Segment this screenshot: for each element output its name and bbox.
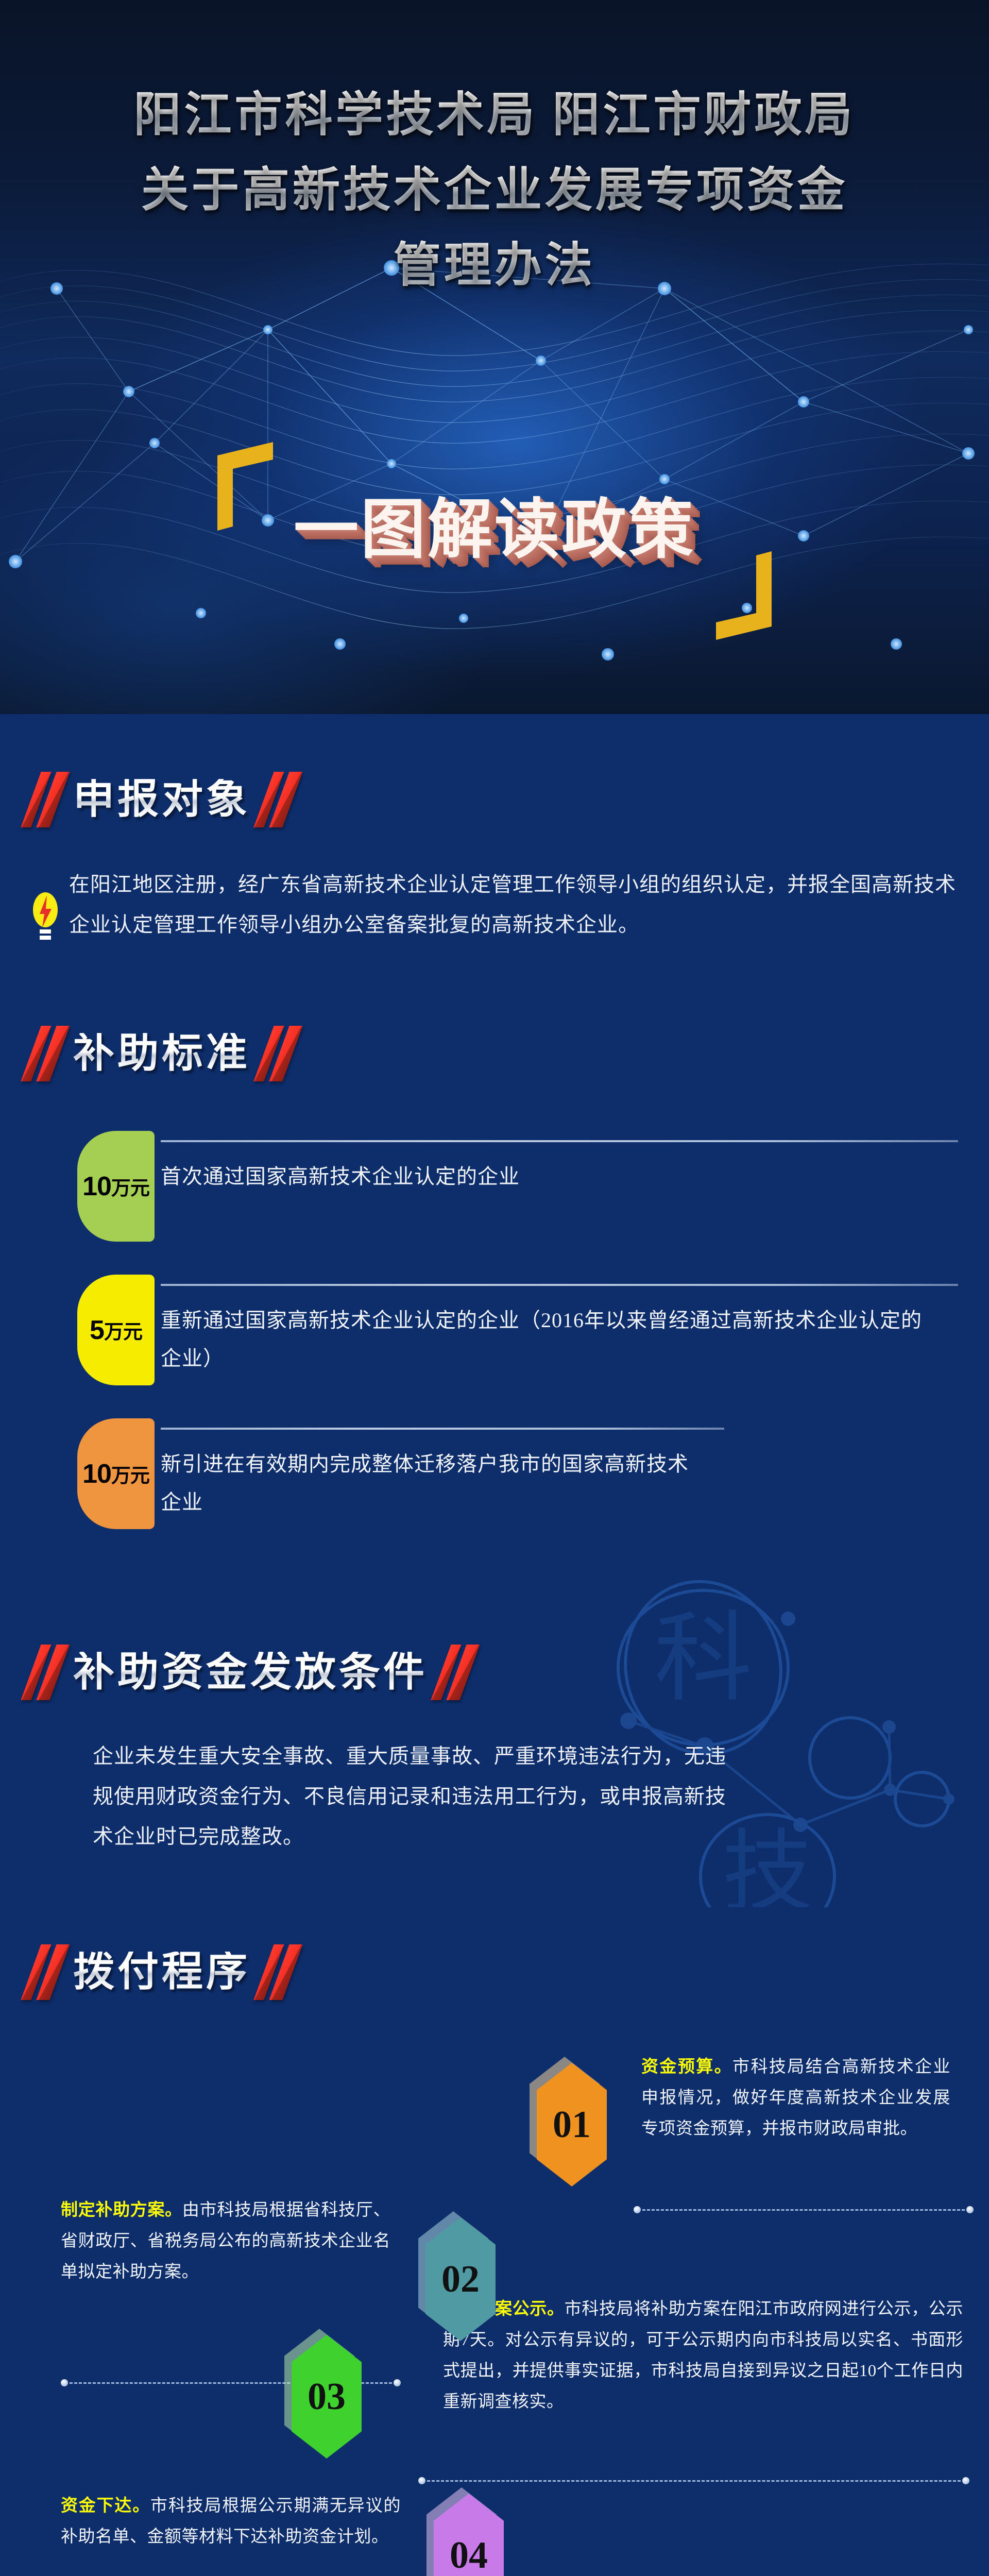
hero-title: 阳江市科学技术局 阳江市财政局 关于高新技术企业发展专项资金 管理办法: [0, 77, 989, 303]
hero-title-line-2: 关于高新技术企业发展专项资金: [0, 152, 989, 228]
divider: [161, 1140, 958, 1142]
step-text: 资金下达。市科技局根据公示期满无异议的补助名单、金额等材料下达补助资金计划。: [61, 2490, 401, 2552]
divider: [161, 1284, 958, 1286]
slash-right-icon: [264, 1944, 293, 2000]
section-heading-disbursement-process: 拨付程序: [0, 1944, 989, 2000]
subsidy-standard-list: 10万元 首次通过国家高新技术企业认定的企业 5万元 重新通过国家高新技术企业认…: [0, 1081, 989, 1529]
step-text: 补助方案公示。市科技局将补助方案在阳江市政府网进行公示，公示期7天。对公示有异议…: [443, 2294, 963, 2417]
section-disbursement-process: 拨付程序 01 资金预算。市科技局结合高新技术企业申报情况，做好年度高新技术企业…: [0, 1857, 989, 2576]
step-number-badge: 01: [530, 2057, 607, 2188]
list-item-text: 新引进在有效期内完成整体迁移落户我市的国家高新技术企业: [161, 1445, 704, 1521]
amount-value: 5: [90, 1315, 104, 1346]
step-text: 制定补助方案。由市科技局根据省科技厅、省财政厅、省税务局公布的高新技术企业名单拟…: [61, 2195, 390, 2287]
process-step-list: 01 资金预算。市科技局结合高新技术企业申报情况，做好年度高新技术企业发展专项资…: [0, 2052, 989, 2576]
section-title: 补助资金发放条件: [73, 1652, 428, 1693]
policy-banner: 一图解读政策: [191, 453, 798, 629]
list-item: 5万元 重新通过国家高新技术企业认定的企业（2016年以来曾经通过高新技术企业认…: [77, 1275, 958, 1385]
section-heading-application-target: 申报对象: [0, 772, 989, 827]
amount-value: 10: [82, 1171, 111, 1202]
list-item: 10万元 新引进在有效期内完成整体迁移落户我市的国家高新技术企业: [77, 1418, 958, 1529]
section-title: 拨付程序: [73, 1952, 250, 1993]
section-heading-subsidy-standard: 补助标准: [0, 1026, 989, 1081]
section-title: 补助标准: [73, 1033, 250, 1074]
connector-line: [418, 2477, 969, 2484]
amount-badge: 5万元: [77, 1275, 155, 1385]
step-lead: 制定补助方案。: [61, 2201, 182, 2219]
step-lead: 资金预算。: [641, 2058, 732, 2076]
slash-right-icon: [264, 1026, 293, 1081]
policy-banner-text: 一图解读政策: [191, 477, 798, 571]
content-sheet: 申报对象 在阳江地区注册，经广东省高新技术企业认定管理工作领导小组的组织认定，并…: [0, 714, 989, 2576]
section-payout-conditions: 科 技 补助资金发放条件 企业未发生重大安全事故、重大质量事故、严重环境违法行为…: [0, 1562, 989, 1857]
connector-line: [634, 2206, 974, 2213]
section-subsidy-standard: 补助标准 10万元 首次通过国家高新技术企业认定的企业 5万元: [0, 948, 989, 1529]
divider: [161, 1428, 724, 1430]
hero-banner: 阳江市科学技术局 阳江市财政局 关于高新技术企业发展专项资金 管理办法 一图解读…: [0, 0, 989, 714]
slash-left-icon: [31, 1944, 60, 2000]
step-text: 资金预算。市科技局结合高新技术企业申报情况，做好年度高新技术企业发展专项资金预算…: [641, 2052, 950, 2144]
list-item-text: 重新通过国家高新技术企业认定的企业（2016年以来曾经通过高新技术企业认定的企业…: [161, 1301, 937, 1378]
amount-value: 10: [82, 1459, 111, 1489]
hero-title-line-3: 管理办法: [0, 228, 989, 303]
section-application-target: 申报对象 在阳江地区注册，经广东省高新技术企业认定管理工作领导小组的组织认定，并…: [0, 714, 989, 948]
slash-right-icon: [441, 1645, 470, 1700]
list-item-text: 首次通过国家高新技术企业认定的企业: [161, 1158, 937, 1196]
section-paragraph: 在阳江地区注册，经广东省高新技术企业认定管理工作领导小组的组织认定，并报全国高新…: [69, 865, 956, 948]
section-title: 申报对象: [73, 779, 250, 820]
lightbulb-icon: [31, 865, 60, 948]
step-number-badge: 04: [427, 2487, 504, 2576]
slash-left-icon: [31, 1645, 60, 1700]
list-item: 10万元 首次通过国家高新技术企业认定的企业: [77, 1131, 958, 1242]
amount-unit: 万元: [111, 1172, 149, 1200]
amount-unit: 万元: [104, 1316, 142, 1344]
slash-left-icon: [31, 772, 60, 827]
slash-left-icon: [31, 1026, 60, 1081]
slash-right-icon: [264, 772, 293, 827]
amount-badge: 10万元: [77, 1131, 155, 1242]
amount-badge: 10万元: [77, 1418, 155, 1529]
hero-title-line-1: 阳江市科学技术局 阳江市财政局: [0, 77, 989, 152]
amount-unit: 万元: [111, 1460, 149, 1488]
step-number-badge: 03: [284, 2329, 362, 2460]
step-lead: 资金下达。: [61, 2497, 150, 2515]
section-paragraph: 企业未发生重大安全事故、重大质量事故、严重环境违法行为，无违规使用财政资金行为、…: [93, 1736, 731, 1857]
section-heading-payout-conditions: 补助资金发放条件: [0, 1645, 989, 1700]
